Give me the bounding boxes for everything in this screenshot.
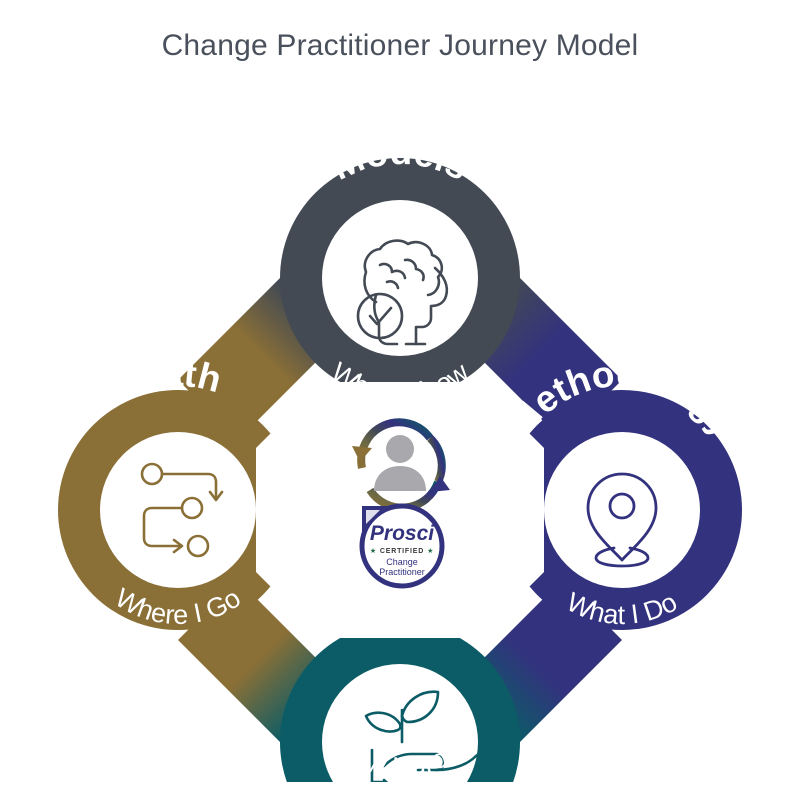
badge-star-left: ★ (370, 547, 377, 555)
node-methodology-inner (544, 432, 700, 588)
badge-star-right: ★ (427, 547, 434, 555)
node-path-label: Path (131, 353, 226, 401)
badge-role-line1: Change (386, 557, 418, 567)
journey-model-diagram: Models What I Know Methodology (40, 82, 760, 782)
diagram-canvas: Change Practitioner Journey Model (0, 0, 800, 800)
badge-brand: Prosci (370, 522, 435, 545)
badge-certified-text: CERTIFIED (380, 548, 424, 555)
page-title: Change Practitioner Journey Model (0, 28, 800, 64)
badge-role-line2: Practitioner (379, 567, 425, 577)
node-models-inner (322, 200, 478, 356)
node-path-inner (100, 432, 256, 588)
node-models[interactable]: Models What I Know (280, 131, 520, 408)
prosci-certification-badge: Prosci ★CERTIFIED★ Change Practitioner (362, 506, 442, 586)
